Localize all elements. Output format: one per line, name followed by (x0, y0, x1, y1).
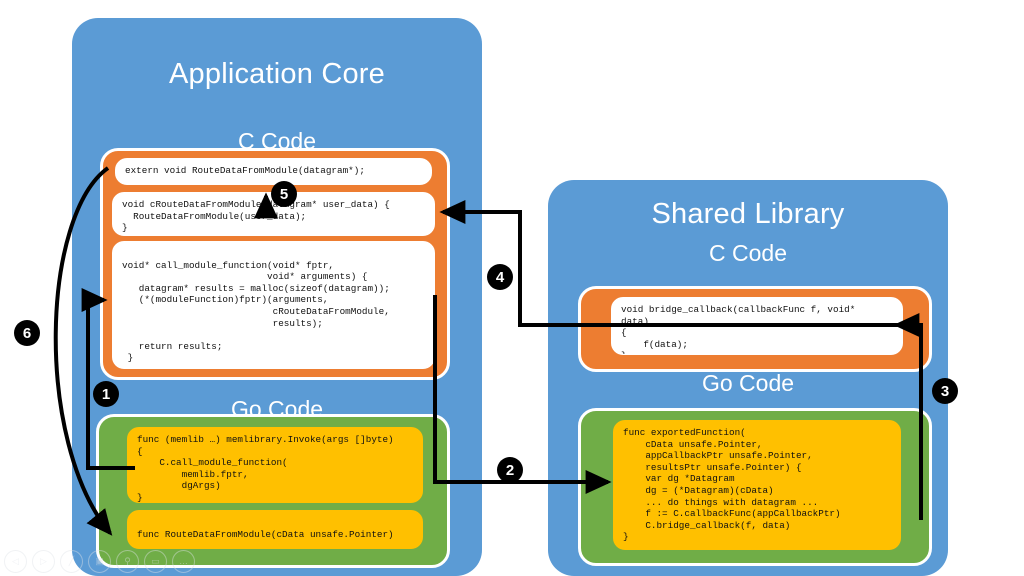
application-core-go-group: func (memlib …) memlibrary.Invoke(args [… (96, 414, 450, 568)
step-badge-6: 6 (14, 320, 40, 346)
route-data-func-card: func RouteDataFromModule(cData unsafe.Po… (127, 510, 423, 549)
call-module-function-card: void* call_module_function(void* fptr, v… (112, 241, 435, 369)
pen-tool-button[interactable]: ╱ (60, 550, 83, 573)
bridge-callback-card: void bridge_callback(callbackFunc f, voi… (611, 297, 903, 355)
shared-library-title: Shared Library (548, 198, 948, 231)
shared-library-go-group: func exportedFunction( cData unsafe.Poin… (578, 408, 932, 566)
extern-decl-card: extern void RouteDataFromModule(datagram… (115, 158, 432, 185)
invoke-func-card: func (memlib …) memlibrary.Invoke(args [… (127, 427, 423, 503)
shared-library-c-group: void bridge_callback(callbackFunc f, voi… (578, 286, 932, 372)
zoom-button[interactable]: ⚲ (116, 550, 139, 573)
exported-function-card: func exportedFunction( cData unsafe.Poin… (613, 420, 901, 550)
shared-library-c-code-label: C Code (548, 240, 948, 267)
fullscreen-button[interactable]: ▭ (144, 550, 167, 573)
step-badge-4: 4 (487, 264, 513, 290)
previous-slide-button[interactable]: ◁ (4, 550, 27, 573)
more-options-button[interactable]: … (172, 550, 195, 573)
shared-library-go-code-label: Go Code (548, 370, 948, 397)
slide-canvas: Application Core C Code Go Code extern v… (0, 0, 1024, 576)
step-badge-2: 2 (497, 457, 523, 483)
play-slide-button[interactable]: ▷ (32, 550, 55, 573)
step-badge-3: 3 (932, 378, 958, 404)
application-core-title: Application Core (72, 58, 482, 91)
step-badge-1: 1 (93, 381, 119, 407)
slide-player-toolbar[interactable]: ◁ ▷ ╱ ▣ ⚲ ▭ … (4, 549, 195, 573)
step-badge-5: 5 (271, 181, 297, 207)
present-view-button[interactable]: ▣ (88, 550, 111, 573)
